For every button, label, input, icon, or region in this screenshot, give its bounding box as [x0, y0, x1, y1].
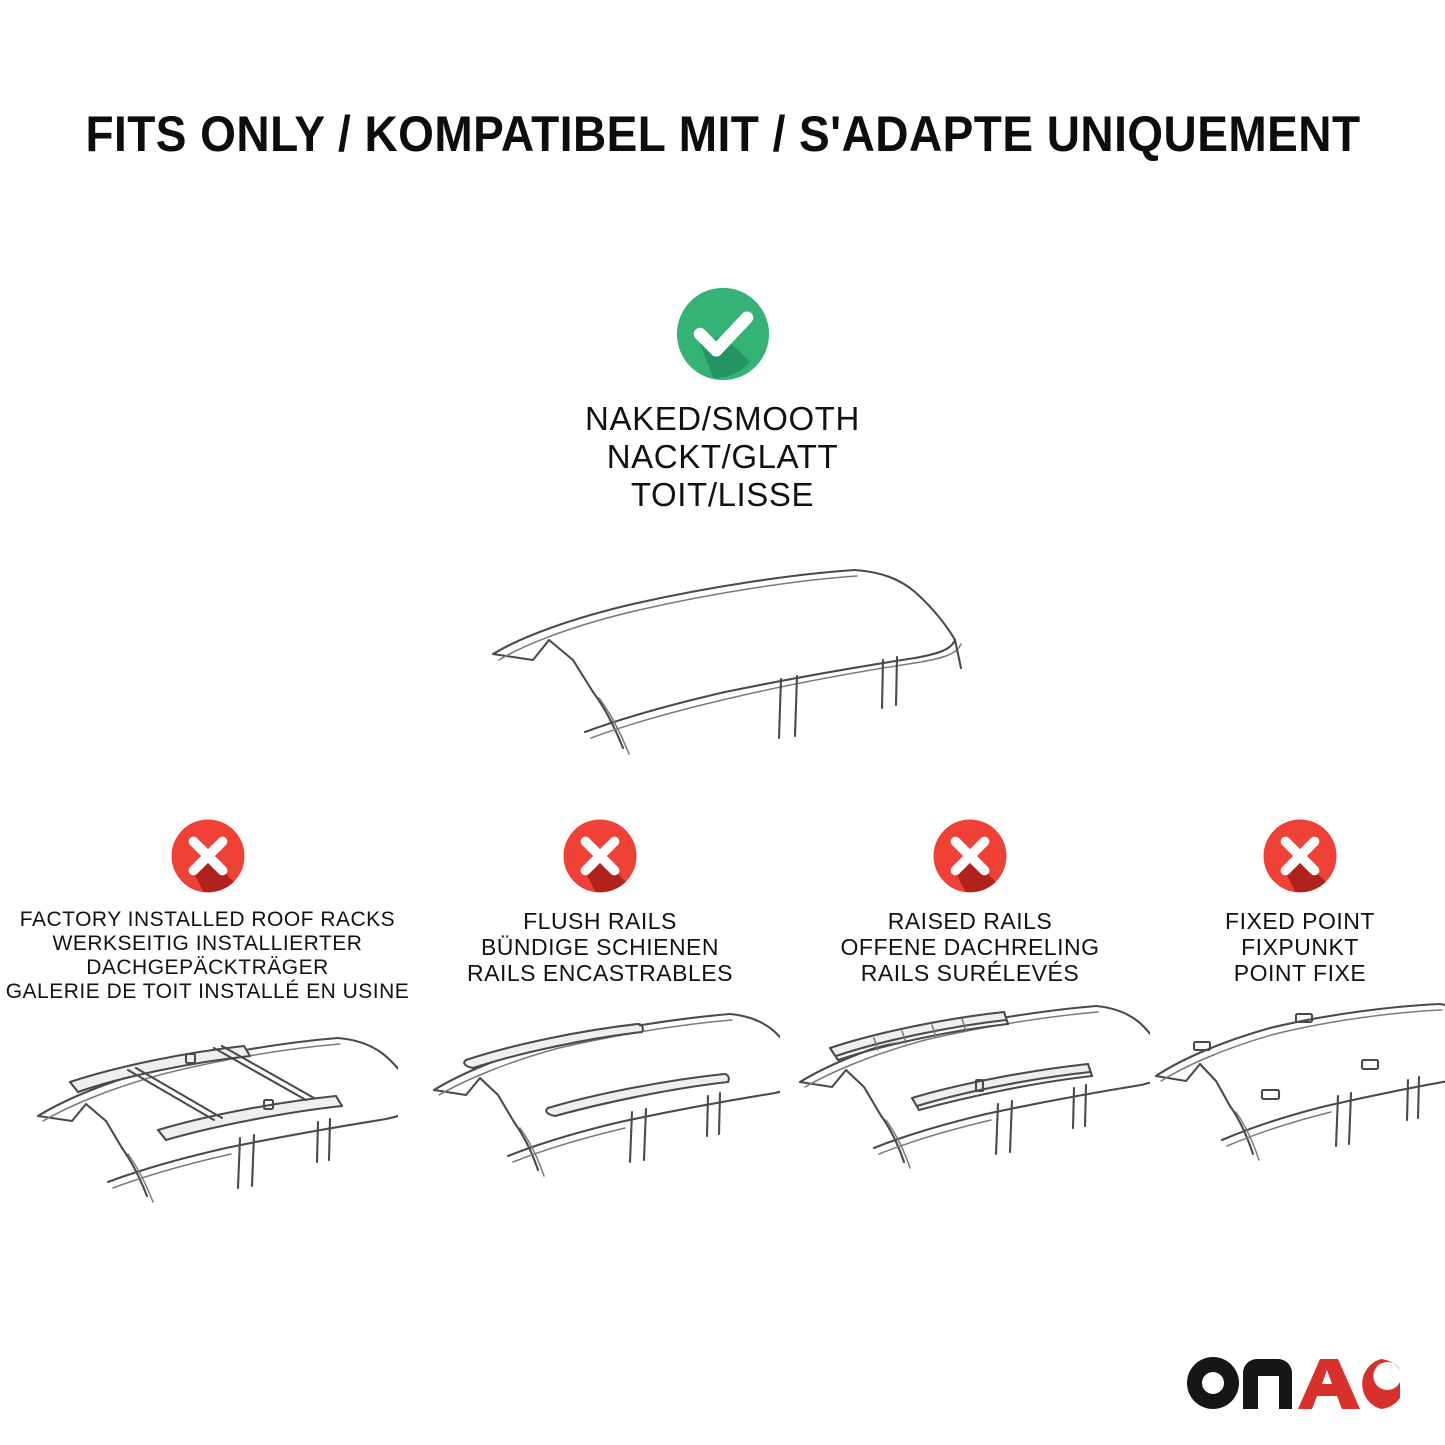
compatible-label-en: NAKED/SMOOTH: [0, 400, 1445, 438]
factory-rack-label-en: FACTORY INSTALLED ROOF RACKS: [6, 908, 410, 932]
red-x-icon: [562, 818, 638, 894]
car-roof-factory-rack-svg: [18, 1016, 398, 1241]
logo-letter-c: [1362, 1359, 1400, 1409]
factory-rack-label-de-1: WERKSEITIG INSTALLIERTER: [6, 932, 410, 956]
car-roof-raised-rails-svg: [790, 998, 1150, 1223]
factory-rack-label-de-2: DACHGEPÄCKTRÄGER: [6, 956, 410, 980]
incompatible-item-factory-rack: FACTORY INSTALLED ROOF RACKS WERKSEITIG …: [0, 818, 415, 1246]
green-check-icon: [675, 286, 771, 382]
car-roof-factory-rack-illustration: [18, 1016, 398, 1246]
red-x-icon: [932, 818, 1008, 894]
car-roof-fixed-point-illustration: [1150, 998, 1445, 1228]
red-x-icon-svg: [562, 818, 638, 894]
omac-logo: [1186, 1352, 1402, 1414]
fixed-point-labels: FIXED POINT FIXPUNKT POINT FIXE: [1225, 908, 1375, 986]
incompatible-item-fixed-point: FIXED POINT FIXPUNKT POINT FIXE: [1155, 818, 1445, 1228]
fixed-point-label-en: FIXED POINT: [1225, 908, 1375, 934]
red-x-icon-svg: [932, 818, 1008, 894]
car-roof-raised-rails-illustration: [790, 998, 1150, 1228]
page-title-bar: FITS ONLY / KOMPATIBEL MIT / S'ADAPTE UN…: [0, 104, 1445, 164]
red-x-icon: [1262, 818, 1338, 894]
red-x-icon-svg: [1262, 818, 1338, 894]
car-roof-naked-smooth-svg: [463, 532, 983, 782]
compatible-labels: NAKED/SMOOTH NACKT/GLATT TOIT/LISSE: [0, 400, 1445, 514]
incompatible-section: FACTORY INSTALLED ROOF RACKS WERKSEITIG …: [0, 818, 1445, 1246]
omac-logo-svg: [1186, 1352, 1402, 1414]
compatible-section: NAKED/SMOOTH NACKT/GLATT TOIT/LISSE: [0, 286, 1445, 782]
car-roof-flush-rails-svg: [420, 998, 780, 1223]
logo-letter-a: [1298, 1359, 1360, 1409]
factory-rack-label-fr: GALERIE DE TOIT INSTALLÉ EN USINE: [6, 980, 410, 1004]
compatible-label-de: NACKT/GLATT: [0, 438, 1445, 476]
compatible-label-fr: TOIT/LISSE: [0, 476, 1445, 514]
factory-rack-labels: FACTORY INSTALLED ROOF RACKS WERKSEITIG …: [6, 908, 410, 1004]
flush-rails-label-fr: RAILS ENCASTRABLES: [467, 960, 733, 986]
logo-letter-m: [1243, 1359, 1292, 1409]
raised-rails-label-de: OFFENE DACHRELING: [841, 934, 1100, 960]
fixed-point-label-fr: POINT FIXE: [1225, 960, 1375, 986]
red-x-icon: [170, 818, 246, 894]
raised-rails-labels: RAISED RAILS OFFENE DACHRELING RAILS SUR…: [841, 908, 1100, 986]
car-roof-fixed-point-svg: [1150, 998, 1445, 1223]
flush-rails-label-de: BÜNDIGE SCHIENEN: [467, 934, 733, 960]
incompatible-item-flush-rails: FLUSH RAILS BÜNDIGE SCHIENEN RAILS ENCAS…: [415, 818, 785, 1228]
car-roof-flush-rails-illustration: [420, 998, 780, 1228]
logo-letter-o: [1187, 1357, 1239, 1409]
red-x-icon-svg: [170, 818, 246, 894]
incompatible-item-raised-rails: RAISED RAILS OFFENE DACHRELING RAILS SUR…: [785, 818, 1155, 1228]
car-roof-naked-smooth-illustration: [0, 532, 1445, 782]
page-title: FITS ONLY / KOMPATIBEL MIT / S'ADAPTE UN…: [85, 104, 1360, 164]
fixed-point-label-de: FIXPUNKT: [1225, 934, 1375, 960]
raised-rails-label-en: RAISED RAILS: [841, 908, 1100, 934]
flush-rails-label-en: FLUSH RAILS: [467, 908, 733, 934]
raised-rails-label-fr: RAILS SURÉLEVÉS: [841, 960, 1100, 986]
green-check-icon-svg: [675, 286, 771, 382]
flush-rails-labels: FLUSH RAILS BÜNDIGE SCHIENEN RAILS ENCAS…: [467, 908, 733, 986]
